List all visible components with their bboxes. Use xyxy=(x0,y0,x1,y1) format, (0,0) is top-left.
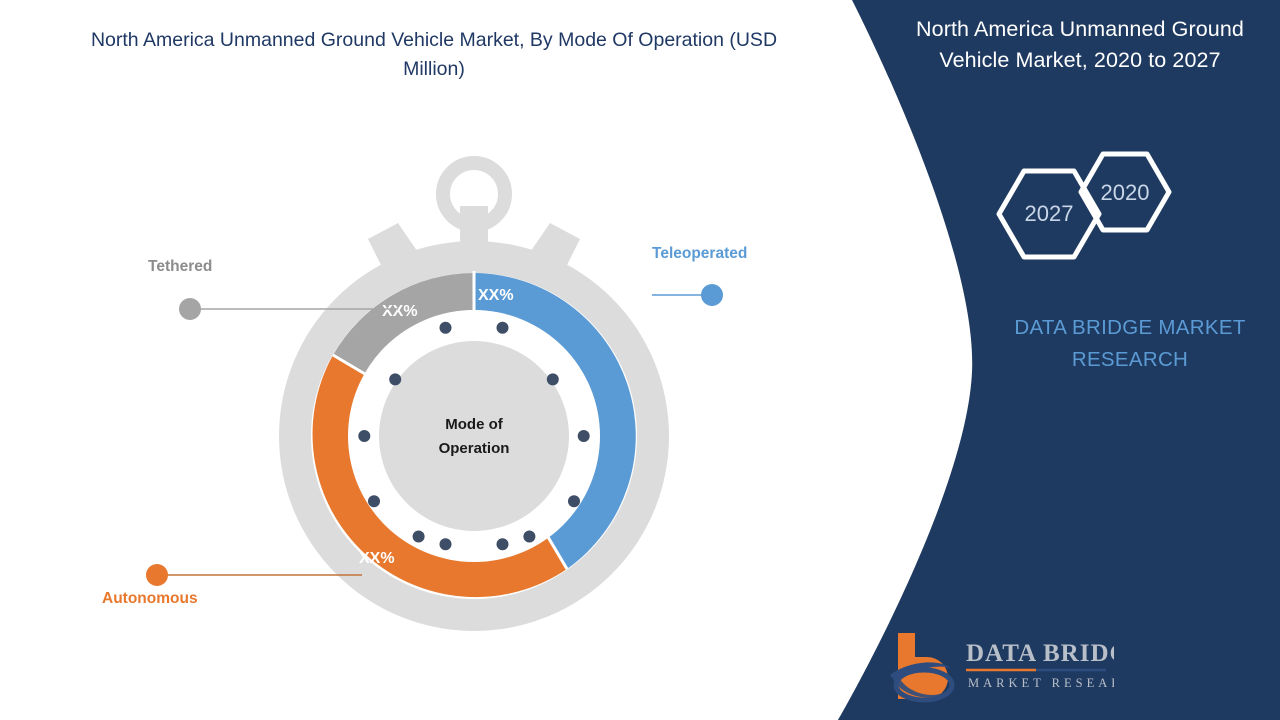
brand-name-line2: RESEARCH xyxy=(988,344,1272,376)
hexagon-label-2020: 2020 xyxy=(1101,180,1150,205)
callout-autonomous[interactable]: Autonomous xyxy=(102,590,198,608)
callout-dot-teleoperated xyxy=(701,284,723,306)
callout-label-teleoperated: Teleoperated xyxy=(652,245,782,263)
donut-center-line2: Operation xyxy=(404,437,544,461)
slice-value-teleoperated: XX% xyxy=(478,287,514,305)
donut-center-line1: Mode of xyxy=(404,413,544,437)
year-hexagons: 2027 2020 xyxy=(975,140,1205,285)
infographic-canvas: North America Unmanned Ground Vehicle Ma… xyxy=(0,0,1280,720)
logo-text-top: DATA BRIDGE xyxy=(966,640,1114,667)
callout-tethered[interactable]: Tethered xyxy=(148,258,398,333)
callout-label-tethered: Tethered xyxy=(148,258,398,276)
slice-value-autonomous: XX% xyxy=(359,550,395,568)
hexagon-label-2027: 2027 xyxy=(1025,201,1074,226)
callout-leader-teleoperated xyxy=(652,263,782,315)
logo-text-bottom: MARKET RESEARCH xyxy=(968,676,1114,690)
callout-leader-autonomous xyxy=(102,549,362,589)
chart-title: North America Unmanned Ground Vehicle Ma… xyxy=(62,26,806,84)
callout-leader-tethered xyxy=(148,276,398,328)
callout-dot-tethered xyxy=(179,298,201,320)
panel-title: North America Unmanned Ground Vehicle Ma… xyxy=(884,14,1276,76)
callout-label-autonomous: Autonomous xyxy=(102,590,198,608)
callout-dot-autonomous xyxy=(146,564,168,586)
donut-center-label: Mode of Operation xyxy=(404,413,544,461)
brand-name-line1: DATA BRIDGE MARKET xyxy=(988,312,1272,344)
logo-mark-icon xyxy=(890,633,952,700)
callout-teleoperated[interactable]: Teleoperated xyxy=(652,245,782,320)
data-bridge-logo: DATA BRIDGE MARKET RESEARCH xyxy=(884,627,1114,705)
brand-name: DATA BRIDGE MARKET RESEARCH xyxy=(988,312,1272,376)
